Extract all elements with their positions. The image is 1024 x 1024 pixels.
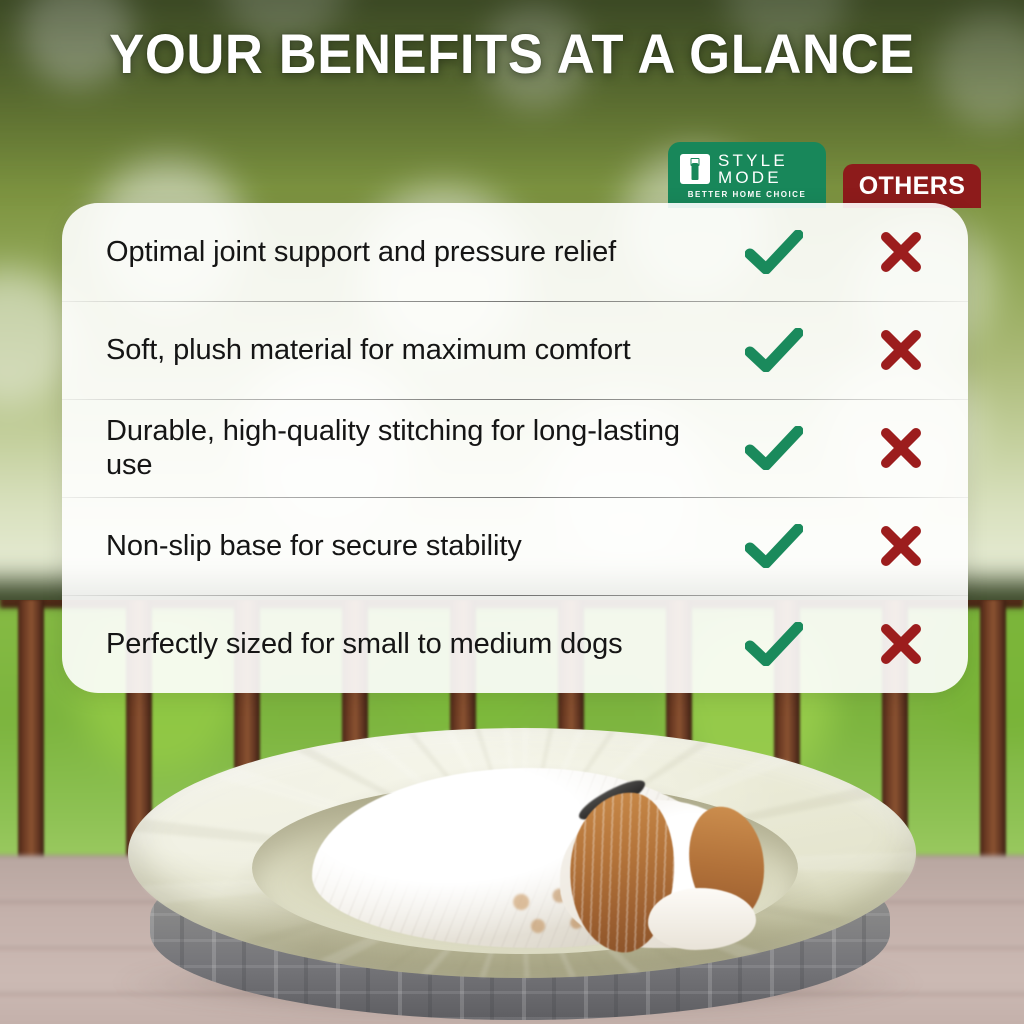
benefit-label: Perfectly sized for small to medium dogs — [106, 627, 714, 661]
tab-others[interactable]: OTHERS — [843, 164, 981, 208]
style-mode-cell — [714, 328, 834, 372]
railing-baluster — [18, 600, 44, 872]
others-cell — [834, 524, 968, 568]
others-cell — [834, 622, 968, 666]
benefit-label: Non-slip base for secure stability — [106, 529, 714, 563]
cross-icon — [879, 426, 923, 470]
benefit-label: Durable, high-quality stitching for long… — [106, 414, 714, 482]
check-icon — [745, 230, 803, 274]
lamp-logo-icon — [680, 154, 710, 184]
brand-tagline: BETTER HOME CHOICE — [668, 190, 826, 199]
cross-icon — [879, 230, 923, 274]
brand-name-line1: STYLE — [718, 152, 788, 169]
check-icon — [745, 622, 803, 666]
benefit-label: Soft, plush material for maximum comfort — [106, 333, 714, 367]
cross-icon — [879, 328, 923, 372]
tab-others-label: OTHERS — [859, 172, 966, 201]
brand-name-line2: MODE — [718, 169, 788, 186]
table-row: Non-slip base for secure stability — [62, 497, 968, 595]
table-row: Soft, plush material for maximum comfort — [62, 301, 968, 399]
style-mode-cell — [714, 230, 834, 274]
table-row: Optimal joint support and pressure relie… — [62, 203, 968, 301]
others-cell — [834, 328, 968, 372]
others-cell — [834, 426, 968, 470]
cross-icon — [879, 524, 923, 568]
page-title: YOUR BENEFITS AT A GLANCE — [31, 26, 994, 82]
comparison-card: Optimal joint support and pressure relie… — [62, 203, 968, 693]
style-mode-cell — [714, 426, 834, 470]
check-icon — [745, 524, 803, 568]
table-row: Perfectly sized for small to medium dogs — [62, 595, 968, 693]
check-icon — [745, 426, 803, 470]
benefit-label: Optimal joint support and pressure relie… — [106, 235, 714, 269]
cross-icon — [879, 622, 923, 666]
check-icon — [745, 328, 803, 372]
style-mode-cell — [714, 524, 834, 568]
tab-style-mode[interactable]: STYLE MODE BETTER HOME CHOICE — [668, 142, 826, 208]
table-row: Durable, high-quality stitching for long… — [62, 399, 968, 497]
style-mode-cell — [714, 622, 834, 666]
others-cell — [834, 230, 968, 274]
railing-baluster — [980, 600, 1006, 872]
